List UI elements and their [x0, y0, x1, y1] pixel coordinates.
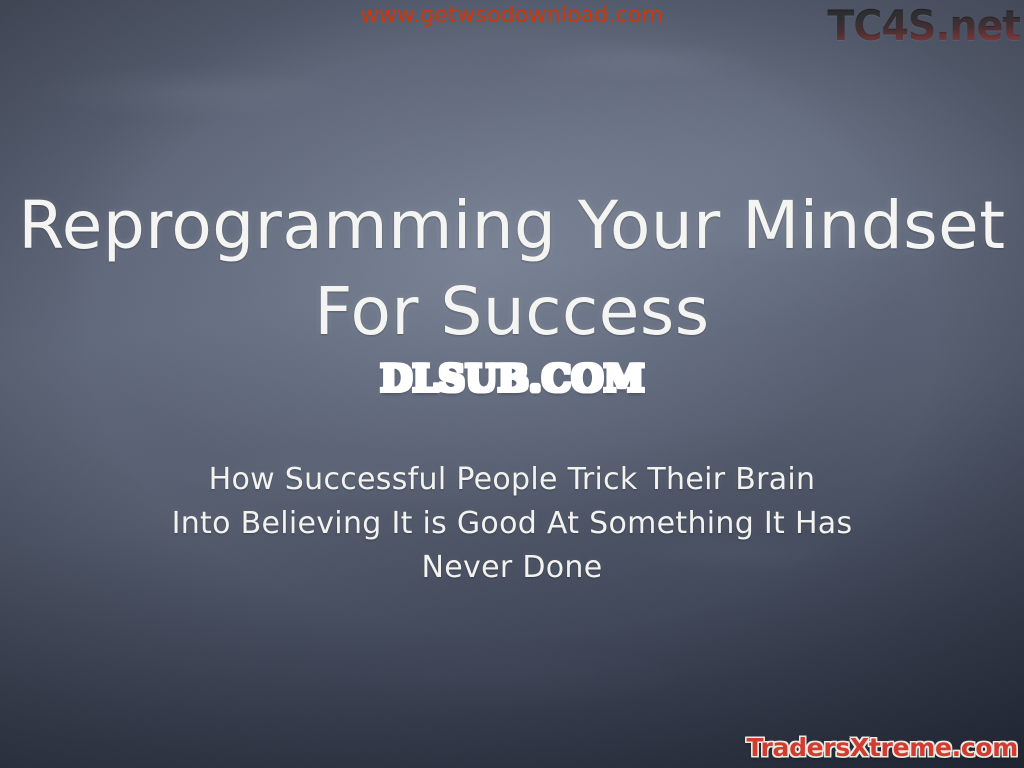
tc4s-brand-logo[interactable]: TC4S.net: [827, 1, 1020, 50]
slide-title: Reprogramming Your Mindset For Success: [0, 183, 1024, 355]
presentation-slide: www.getwsodownload.com TC4S.net Reprogra…: [0, 0, 1024, 768]
dlsub-watermark: DLSUB.COM: [0, 358, 1024, 400]
dlsub-watermark-text: DLSUB.COM: [380, 358, 644, 400]
tradersxtreme-footer-watermark[interactable]: TradersXtreme.com: [746, 733, 1018, 762]
slide-title-line-1: Reprogramming Your Mindset: [0, 183, 1024, 269]
slide-subtitle-line-1: How Successful People Trick Their Brain: [0, 458, 1024, 502]
slide-subtitle-line-3: Never Done: [0, 546, 1024, 590]
slide-subtitle: How Successful People Trick Their Brain …: [0, 458, 1024, 590]
slide-subtitle-line-2: Into Believing It is Good At Something I…: [0, 502, 1024, 546]
slide-title-line-2: For Success: [0, 269, 1024, 355]
